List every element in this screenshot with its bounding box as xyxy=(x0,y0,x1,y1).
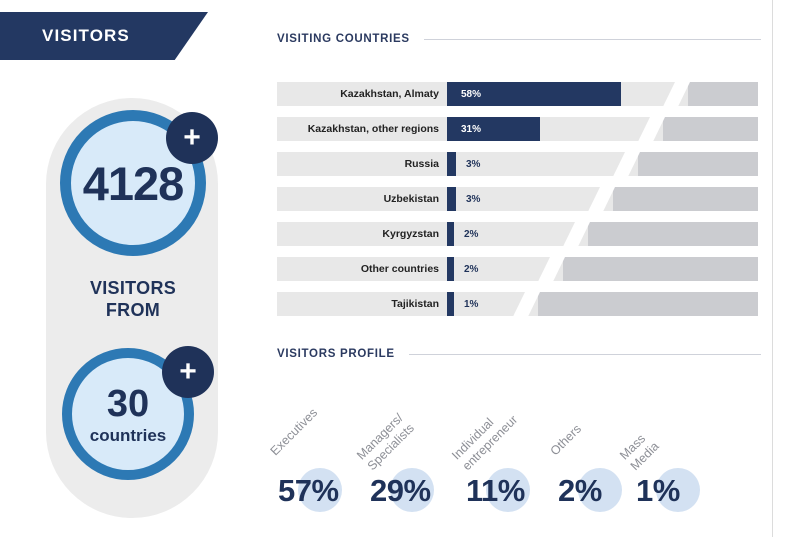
bar-row: Kazakhstan, other regions31% xyxy=(277,117,758,141)
visiting-countries-chart: Kazakhstan, Almaty58%Kazakhstan, other r… xyxy=(277,82,758,322)
stats-panel: 4128 + VISITORS FROM 30 countries + xyxy=(46,98,246,528)
countries-count-unit: countries xyxy=(90,427,167,444)
section-title-visitors-profile: VISITORS PROFILE xyxy=(277,348,395,360)
bar-row-accent-wedge xyxy=(663,117,758,141)
bar-row: Russia3% xyxy=(277,152,758,176)
bar-label: Kyrgyzstan xyxy=(277,222,439,246)
profile-value: 11% xyxy=(466,475,525,506)
section-divider xyxy=(424,39,761,40)
section-header-visitors-profile: VISITORS PROFILE xyxy=(277,348,761,360)
profile-value: 1% xyxy=(636,475,680,506)
bar-row: Kyrgyzstan2% xyxy=(277,222,758,246)
profile-category-label: Executives xyxy=(268,406,321,459)
profile-value: 2% xyxy=(558,475,602,506)
bar-label: Other countries xyxy=(277,257,439,281)
visitors-from-caption: VISITORS FROM xyxy=(46,278,220,322)
bar-value: 3% xyxy=(466,152,480,176)
bar-row: Other countries2% xyxy=(277,257,758,281)
profile-category-label-line1: Executives xyxy=(268,406,321,459)
bar-label: Kazakhstan, other regions xyxy=(277,117,439,141)
bar-fill xyxy=(447,152,456,176)
bar-row: Uzbekistan3% xyxy=(277,187,758,211)
visitors-profile-chart: Executives57%Managers/Specialists29%Indi… xyxy=(270,372,770,522)
bar-fill xyxy=(447,257,454,281)
visitors-banner: VISITORS xyxy=(0,12,208,60)
bar-label: Kazakhstan, Almaty xyxy=(277,82,439,106)
visitors-from-line2: FROM xyxy=(46,300,220,322)
bar-label: Tajikistan xyxy=(277,292,439,316)
bar-row-accent-wedge xyxy=(538,292,758,316)
bar-value: 2% xyxy=(464,257,478,281)
bar-row: Tajikistan1% xyxy=(277,292,758,316)
plus-icon-countries: + xyxy=(162,346,214,398)
profile-value-group: 2% xyxy=(558,464,602,516)
bar-label: Russia xyxy=(277,152,439,176)
section-header-visiting-countries: VISITING COUNTRIES xyxy=(277,33,761,45)
visitors-banner-label: VISITORS xyxy=(42,26,130,46)
bar-row-accent-wedge xyxy=(638,152,758,176)
bar-value: 2% xyxy=(464,222,478,246)
bar-row: Kazakhstan, Almaty58% xyxy=(277,82,758,106)
bar-value: 58% xyxy=(461,82,481,106)
bar-fill xyxy=(447,187,456,211)
bar-fill xyxy=(447,222,454,246)
profile-category-label: Individualentrepreneur xyxy=(449,402,520,473)
profile-category-label: Others xyxy=(548,422,585,459)
countries-count-value: 30 xyxy=(107,385,149,423)
visitors-from-line1: VISITORS xyxy=(46,278,220,300)
profile-value-group: 29% xyxy=(370,464,431,516)
bar-row-accent-wedge xyxy=(563,257,758,281)
infographic-root: VISITORS 4128 + VISITORS FROM 30 countri… xyxy=(0,0,798,537)
page-border-right xyxy=(772,0,773,537)
bar-row-accent-wedge xyxy=(688,82,758,106)
section-title-visiting-countries: VISITING COUNTRIES xyxy=(277,33,410,45)
profile-value: 29% xyxy=(370,475,431,506)
section-divider xyxy=(409,354,761,355)
bar-value: 1% xyxy=(464,292,478,316)
profile-value-group: 11% xyxy=(466,464,525,516)
bar-label: Uzbekistan xyxy=(277,187,439,211)
bar-fill xyxy=(447,292,454,316)
profile-value-group: 1% xyxy=(636,464,680,516)
visitors-count-value: 4128 xyxy=(83,160,184,207)
bar-value: 31% xyxy=(461,117,481,141)
plus-icon-visitors: + xyxy=(166,112,218,164)
profile-value: 57% xyxy=(278,475,339,506)
bar-row-accent-wedge xyxy=(588,222,758,246)
profile-value-group: 57% xyxy=(278,464,339,516)
bar-value: 3% xyxy=(466,187,480,211)
bar-row-accent-wedge xyxy=(613,187,758,211)
profile-category-label-line1: Others xyxy=(548,422,585,459)
